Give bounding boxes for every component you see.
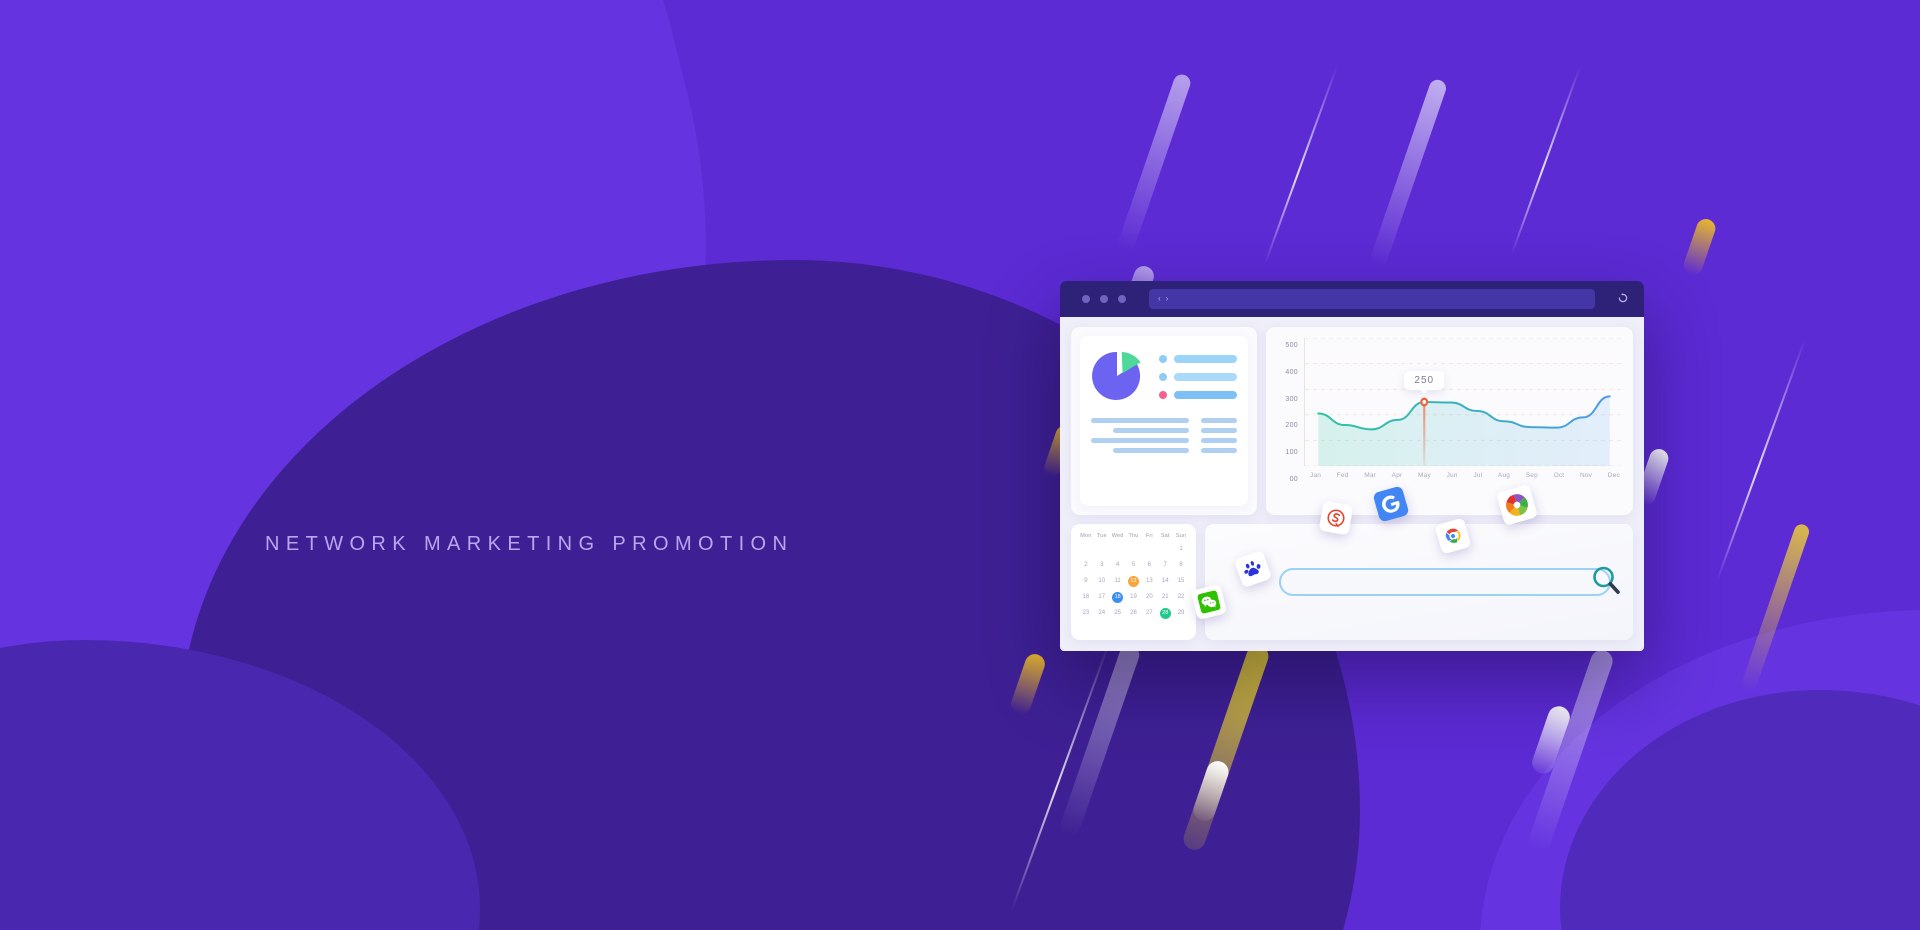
calendar-day[interactable]: 25 xyxy=(1110,608,1126,619)
calendar-day[interactable]: 12 xyxy=(1126,576,1142,587)
legend-row xyxy=(1159,373,1237,381)
baidu-icon[interactable] xyxy=(1234,550,1272,588)
calendar-day[interactable]: 7 xyxy=(1157,560,1173,571)
skeleton-bar xyxy=(1201,448,1237,453)
legend-bar xyxy=(1174,355,1237,363)
calendar-day[interactable]: 3 xyxy=(1094,560,1110,571)
chart-plot-wrapper: 250 JanFedMarAprMayJunJulAugSepOctNovDec xyxy=(1298,338,1623,507)
bottom-row: MonTueWedThuFriSatSun1234567891011121314… xyxy=(1071,524,1633,640)
x-axis-tick: Fed xyxy=(1337,472,1349,479)
legend-dot xyxy=(1159,373,1167,381)
pie-chart-top xyxy=(1091,348,1237,404)
chart-tooltip: 250 xyxy=(1404,371,1444,390)
search-panel xyxy=(1205,524,1633,640)
calendar-day[interactable]: 14 xyxy=(1157,576,1173,587)
streak-band-2 xyxy=(1369,78,1449,268)
skeleton-bar xyxy=(1201,418,1237,423)
calendar-day[interactable]: 6 xyxy=(1141,560,1157,571)
skeleton-bar xyxy=(1201,438,1237,443)
legend-dot xyxy=(1159,391,1167,399)
calendar-day[interactable]: 2 xyxy=(1078,560,1094,571)
x-axis-tick: Oct xyxy=(1554,472,1565,479)
legend-row xyxy=(1159,355,1237,363)
x-axis-tick: Jan xyxy=(1310,472,1321,479)
capsule-yellow-1 xyxy=(1681,216,1718,277)
skeleton-bar xyxy=(1091,438,1189,443)
calendar-empty-cell xyxy=(1157,544,1173,555)
calendar-day[interactable]: 4 xyxy=(1110,560,1126,571)
forward-arrow-icon[interactable]: › xyxy=(1166,295,1169,303)
calendar-empty-cell xyxy=(1094,544,1110,555)
reload-icon[interactable] xyxy=(1618,290,1628,308)
search-icon[interactable] xyxy=(1590,564,1622,601)
line-chart-svg xyxy=(1305,338,1623,466)
calendar-weekday-header: Sat xyxy=(1157,533,1173,539)
calendar-day[interactable]: 21 xyxy=(1157,592,1173,603)
pie-chart-card xyxy=(1071,327,1257,515)
calendar-weekday-header: Sun xyxy=(1173,533,1189,539)
calendar-weekday-header: Fri xyxy=(1141,533,1157,539)
skeleton-bar xyxy=(1113,448,1189,453)
calendar-day[interactable]: 10 xyxy=(1094,576,1110,587)
legend-dot xyxy=(1159,355,1167,363)
pie-chart-inner xyxy=(1080,336,1248,506)
chart-y-axis: 50040030020010000 xyxy=(1272,338,1298,507)
pie-card-skeleton xyxy=(1091,418,1237,453)
x-axis-tick: May xyxy=(1418,472,1431,479)
calendar-day[interactable]: 28 xyxy=(1157,608,1173,619)
calendar-weekday-header: Tue xyxy=(1094,533,1110,539)
sogou-icon[interactable] xyxy=(1319,501,1354,536)
calendar-day[interactable]: 27 xyxy=(1141,608,1157,619)
calendar-day[interactable]: 23 xyxy=(1078,608,1094,619)
calendar-empty-cell xyxy=(1141,544,1157,555)
calendar-day[interactable]: 11 xyxy=(1110,576,1126,587)
x-axis-tick: Aug xyxy=(1498,472,1510,479)
pie-chart-icon xyxy=(1091,348,1147,404)
calendar-day[interactable]: 13 xyxy=(1141,576,1157,587)
y-axis-tick: 300 xyxy=(1285,396,1298,403)
window-minimize-dot[interactable] xyxy=(1100,295,1108,303)
calendar-day[interactable]: 20 xyxy=(1141,592,1157,603)
calendar-day[interactable]: 16 xyxy=(1078,592,1094,603)
chart-marker-line xyxy=(1423,402,1425,466)
calendar-day[interactable]: 8 xyxy=(1173,560,1189,571)
y-axis-tick: 00 xyxy=(1290,476,1298,483)
y-axis-tick: 200 xyxy=(1285,422,1298,429)
calendar-day[interactable]: 1 xyxy=(1173,544,1189,555)
y-axis-tick: 400 xyxy=(1285,369,1298,376)
calendar-day[interactable]: 15 xyxy=(1173,576,1189,587)
calendar-day[interactable]: 19 xyxy=(1126,592,1142,603)
pie-chart-legend xyxy=(1159,353,1237,399)
x-axis-tick: Nov xyxy=(1580,472,1592,479)
line-chart-card: 50040030020010000 250 JanFedMarAprMayJun… xyxy=(1266,327,1633,515)
x-axis-tick: Mar xyxy=(1364,472,1376,479)
back-arrow-icon[interactable]: ‹ xyxy=(1158,295,1161,303)
calendar-day[interactable]: 22 xyxy=(1173,592,1189,603)
skeleton-bars-left xyxy=(1091,418,1189,453)
page-title: NETWORK MARKETING PROMOTION xyxy=(265,533,793,556)
skeleton-bar xyxy=(1113,428,1189,433)
search-input[interactable] xyxy=(1279,568,1611,596)
analytics-row: 50040030020010000 250 JanFedMarAprMayJun… xyxy=(1071,327,1633,515)
calendar-day[interactable]: 5 xyxy=(1126,560,1142,571)
window-maximize-dot[interactable] xyxy=(1118,295,1126,303)
chart-x-axis: JanFedMarAprMayJunJulAugSepOctNovDec xyxy=(1304,466,1623,479)
calendar-weekday-header: Thu xyxy=(1126,533,1142,539)
calendar-empty-cell xyxy=(1078,544,1094,555)
calendar-day[interactable]: 18 xyxy=(1110,592,1126,603)
x-axis-tick: Jun xyxy=(1447,472,1458,479)
skeleton-bar xyxy=(1091,418,1189,423)
legend-bar xyxy=(1174,373,1237,381)
window-close-dot[interactable] xyxy=(1082,295,1090,303)
calendar-day[interactable]: 9 xyxy=(1078,576,1094,587)
window-control-dots xyxy=(1074,295,1126,303)
calendar-empty-cell xyxy=(1126,544,1142,555)
browser-title-bar: ‹ › xyxy=(1060,281,1644,317)
skeleton-bars-right xyxy=(1201,418,1237,453)
browser-content-area: 50040030020010000 250 JanFedMarAprMayJun… xyxy=(1060,317,1644,651)
calendar-day[interactable]: 24 xyxy=(1094,608,1110,619)
x-axis-tick: Dec xyxy=(1608,472,1620,479)
chrome-icon[interactable] xyxy=(1434,517,1471,554)
calendar-day[interactable]: 17 xyxy=(1094,592,1110,603)
streak-line-1 xyxy=(1264,66,1338,264)
x-axis-tick: Jul xyxy=(1473,472,1482,479)
calendar-grid: MonTueWedThuFriSatSun1234567891011121314… xyxy=(1078,533,1189,619)
calendar-empty-cell xyxy=(1110,544,1126,555)
address-bar[interactable]: ‹ › xyxy=(1149,289,1595,309)
browser-window-mockup: ‹ › xyxy=(1060,281,1644,651)
skeleton-bar xyxy=(1201,428,1237,433)
chart-plot-area: 250 xyxy=(1304,338,1623,466)
wechat-icon[interactable] xyxy=(1191,584,1227,620)
legend-bar xyxy=(1174,391,1237,399)
calendar-day[interactable]: 29 xyxy=(1173,608,1189,619)
x-axis-tick: Apr xyxy=(1392,472,1403,479)
calendar-widget[interactable]: MonTueWedThuFriSatSun1234567891011121314… xyxy=(1071,524,1196,640)
calendar-weekday-header: Mon xyxy=(1078,533,1094,539)
calendar-weekday-header: Wed xyxy=(1110,533,1126,539)
streak-line-2 xyxy=(1511,66,1581,255)
streak-band-1 xyxy=(1116,72,1192,252)
y-axis-tick: 100 xyxy=(1285,449,1298,456)
legend-row xyxy=(1159,391,1237,399)
y-axis-tick: 500 xyxy=(1285,342,1298,349)
calendar-day[interactable]: 26 xyxy=(1126,608,1142,619)
x-axis-tick: Sep xyxy=(1526,472,1538,479)
